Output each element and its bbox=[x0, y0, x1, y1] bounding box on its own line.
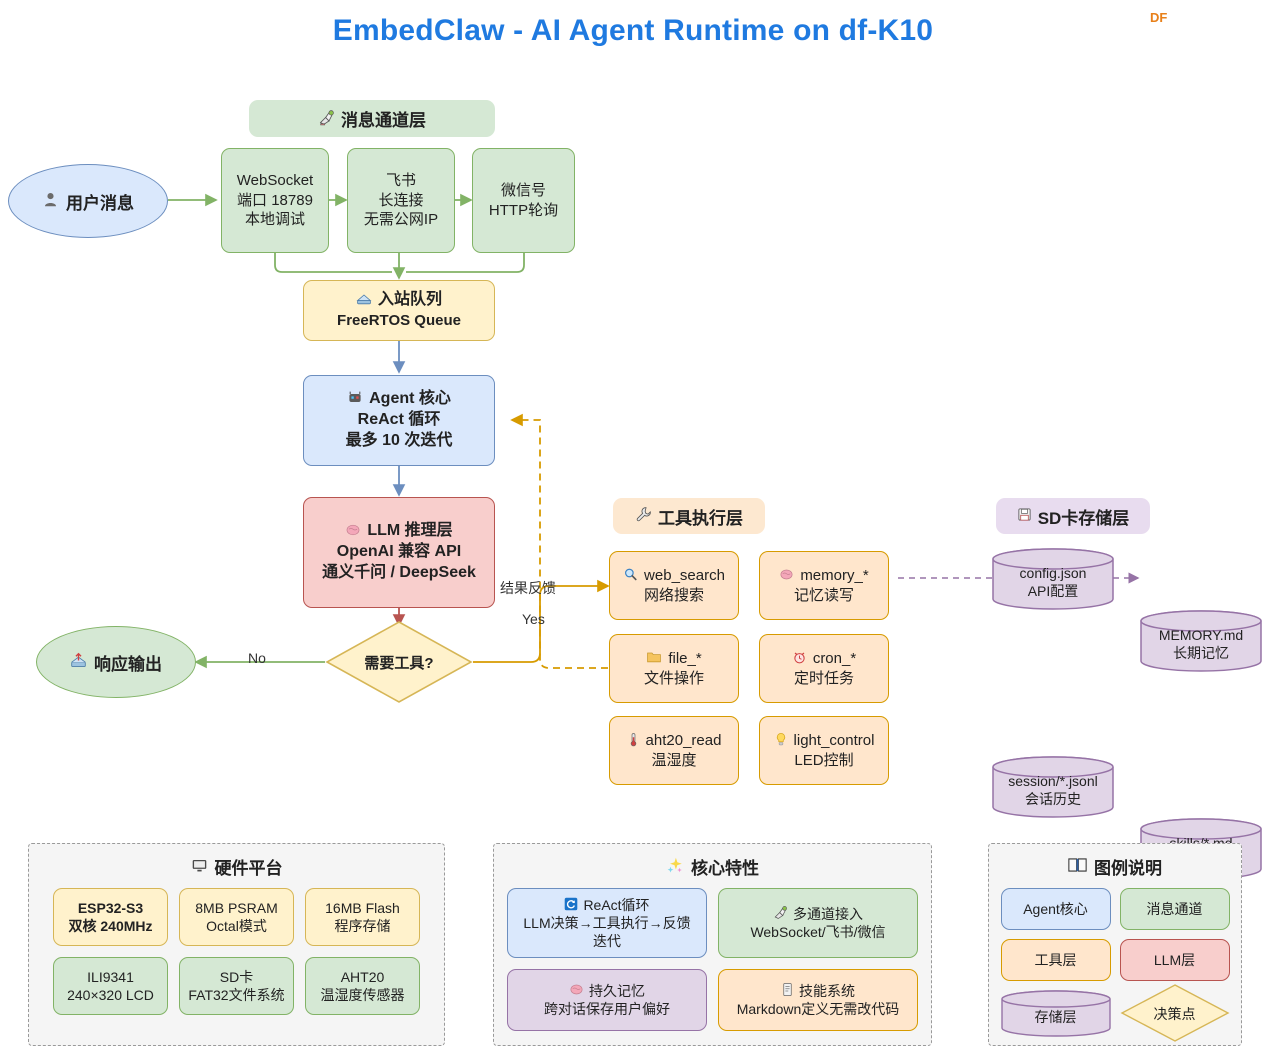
thermometer-icon bbox=[627, 732, 640, 750]
item-line: 16MB Flash bbox=[325, 899, 400, 917]
item-line: SD卡 bbox=[220, 968, 253, 986]
legend-item-llm-layer: LLM层 bbox=[1120, 939, 1230, 981]
storage-layer-header: SD卡存储层 bbox=[996, 498, 1150, 534]
legend-item-tool-layer: 工具层 bbox=[1001, 939, 1111, 981]
response-output-node[interactable]: 响应输出 bbox=[36, 626, 196, 698]
hardware-item-sdcard[interactable]: SD卡 FAT32文件系统 bbox=[179, 957, 294, 1015]
storage-line: 长期记忆 bbox=[1173, 644, 1229, 662]
legend-label: 工具层 bbox=[1035, 951, 1077, 969]
book-icon bbox=[1068, 857, 1087, 876]
channel-node-feishu[interactable]: 飞书 长连接 无需公网IP bbox=[347, 148, 455, 253]
item-line: 8MB PSRAM bbox=[195, 899, 277, 917]
bulb-icon bbox=[774, 732, 788, 750]
item-line: FAT32文件系统 bbox=[188, 986, 284, 1004]
legend-item-agent-core: Agent核心 bbox=[1001, 888, 1111, 930]
storage-line: config.json bbox=[1020, 564, 1087, 582]
item-line: 双核 240MHz bbox=[68, 917, 152, 935]
magnifier-icon bbox=[623, 567, 638, 585]
storage-line: API配置 bbox=[1028, 582, 1079, 600]
item-line: 240×320 LCD bbox=[67, 986, 154, 1004]
channel-node-wechat[interactable]: 微信号 HTTP轮询 bbox=[472, 148, 575, 253]
queue-subtitle: FreeRTOS Queue bbox=[337, 311, 461, 331]
feature-line: WebSocket/飞书/微信 bbox=[750, 923, 885, 941]
queue-title: 入站队列 bbox=[378, 290, 442, 311]
satellite-icon bbox=[773, 905, 788, 922]
watermark-label: DF bbox=[1150, 10, 1167, 25]
storage-line: 会话历史 bbox=[1025, 790, 1081, 808]
item-line: Octal模式 bbox=[206, 917, 267, 935]
node-line: 最多 10 次迭代 bbox=[346, 431, 453, 452]
feature-item-persistent-memory[interactable]: 持久记忆 跨对话保存用户偏好 bbox=[507, 969, 707, 1031]
llm-layer-node[interactable]: LLM 推理层 OpenAI 兼容 API 通义千问 / DeepSeek bbox=[303, 497, 495, 608]
node-line: 微信号 bbox=[501, 181, 546, 201]
hardware-panel: 硬件平台 ESP32-S3 双核 240MHz 8MB PSRAM Octal模… bbox=[28, 843, 445, 1046]
hardware-item-lcd[interactable]: ILI9341 240×320 LCD bbox=[53, 957, 168, 1015]
sparkles-icon bbox=[666, 856, 684, 877]
floppy-icon bbox=[1017, 507, 1032, 525]
page-icon bbox=[781, 982, 794, 999]
hardware-item-esp32[interactable]: ESP32-S3 双核 240MHz bbox=[53, 888, 168, 946]
response-output-label: 响应输出 bbox=[94, 650, 162, 675]
wrench-icon bbox=[635, 506, 652, 526]
legend-label: 消息通道 bbox=[1147, 900, 1203, 918]
refresh-icon bbox=[564, 897, 578, 913]
tool-node-aht20-read[interactable]: aht20_read 温湿度 bbox=[609, 716, 739, 785]
robot-icon bbox=[347, 390, 363, 410]
feature-line: LLM决策→工具执行→反馈 bbox=[523, 914, 690, 932]
feature-head: 持久记忆 bbox=[589, 982, 645, 1000]
tool-desc: 网络搜索 bbox=[644, 586, 704, 606]
legend-label: 存储层 bbox=[1035, 1008, 1077, 1026]
hardware-item-psram[interactable]: 8MB PSRAM Octal模式 bbox=[179, 888, 294, 946]
tool-desc: 记忆读写 bbox=[794, 586, 854, 606]
features-panel-title: 核心特性 bbox=[494, 854, 931, 879]
node-line: 无需公网IP bbox=[364, 210, 438, 230]
agent-core-node[interactable]: Agent 核心 ReAct 循环 最多 10 次迭代 bbox=[303, 375, 495, 466]
legend-panel-title: 图例说明 bbox=[989, 854, 1241, 879]
node-line: 通义千问 / DeepSeek bbox=[322, 563, 476, 584]
brain-icon bbox=[779, 567, 794, 585]
brain-icon bbox=[345, 522, 361, 542]
feature-item-react-loop[interactable]: ReAct循环 LLM决策→工具执行→反馈 迭代 bbox=[507, 888, 707, 958]
agent-core-title: Agent 核心 bbox=[369, 389, 451, 410]
decision-label: 需要工具? bbox=[364, 652, 433, 673]
tool-desc: 温湿度 bbox=[651, 751, 696, 771]
features-panel: 核心特性 ReAct循环 LLM决策→工具执行→反馈 迭代 bbox=[493, 843, 932, 1046]
node-line: 飞书 bbox=[386, 171, 416, 191]
legend-label: Agent核心 bbox=[1023, 900, 1088, 918]
feature-item-multichannel[interactable]: 多通道接入 WebSocket/飞书/微信 bbox=[718, 888, 918, 958]
tool-name: cron_* bbox=[813, 649, 856, 669]
legend-item-storage-layer: 存储层 bbox=[1001, 990, 1111, 1037]
tool-node-memory[interactable]: memory_* 记忆读写 bbox=[759, 551, 889, 620]
hardware-item-aht20[interactable]: AHT20 温湿度传感器 bbox=[305, 957, 420, 1015]
edge-label-feedback: 结果反馈 bbox=[500, 578, 556, 598]
panel-title-label: 核心特性 bbox=[691, 854, 759, 879]
tool-name: memory_* bbox=[800, 566, 868, 586]
storage-layer-label: SD卡存储层 bbox=[1038, 504, 1130, 529]
node-line: ReAct 循环 bbox=[358, 410, 441, 431]
tool-layer-label: 工具执行层 bbox=[658, 504, 743, 529]
llm-title: LLM 推理层 bbox=[367, 521, 452, 542]
tool-layer-header: 工具执行层 bbox=[613, 498, 765, 534]
tool-desc: 文件操作 bbox=[644, 669, 704, 689]
tool-name: light_control bbox=[794, 731, 875, 751]
feature-head: 技能系统 bbox=[799, 982, 855, 1000]
legend-item-decision: 决策点 bbox=[1120, 990, 1230, 1037]
user-icon bbox=[42, 191, 59, 211]
legend-panel: 图例说明 Agent核心 消息通道 工具层 LLM层 存储层 决 bbox=[988, 843, 1242, 1046]
storage-line: session/*.jsonl bbox=[1008, 772, 1098, 790]
tool-node-light-control[interactable]: light_control LED控制 bbox=[759, 716, 889, 785]
user-message-node[interactable]: 用户消息 bbox=[8, 164, 168, 238]
node-line: 长连接 bbox=[378, 191, 423, 211]
node-line: WebSocket bbox=[237, 171, 313, 191]
tool-name: aht20_read bbox=[646, 731, 722, 751]
folder-icon bbox=[646, 649, 662, 668]
tool-node-web-search[interactable]: web_search 网络搜索 bbox=[609, 551, 739, 620]
tool-desc: 定时任务 bbox=[794, 669, 854, 689]
edge-label-yes: Yes bbox=[522, 611, 545, 627]
tool-node-file[interactable]: file_* 文件操作 bbox=[609, 634, 739, 703]
feature-line: 迭代 bbox=[593, 932, 621, 950]
panel-title-label: 硬件平台 bbox=[215, 854, 283, 879]
edge-label-no: No bbox=[248, 650, 266, 666]
item-line: AHT20 bbox=[341, 968, 385, 986]
brain-icon bbox=[569, 982, 584, 999]
monitor-icon bbox=[191, 857, 208, 877]
inbound-queue-node[interactable]: 入站队列 FreeRTOS Queue bbox=[303, 280, 495, 341]
node-line: HTTP轮询 bbox=[489, 201, 558, 221]
node-line: 本地调试 bbox=[245, 210, 305, 230]
legend-item-message-channel: 消息通道 bbox=[1120, 888, 1230, 930]
item-line: ESP32-S3 bbox=[78, 899, 143, 917]
alarm-clock-icon bbox=[792, 650, 807, 668]
legend-label: LLM层 bbox=[1154, 951, 1195, 969]
tool-node-cron[interactable]: cron_* 定时任务 bbox=[759, 634, 889, 703]
hardware-item-flash[interactable]: 16MB Flash 程序存储 bbox=[305, 888, 420, 946]
channel-node-websocket[interactable]: WebSocket 端口 18789 本地调试 bbox=[221, 148, 329, 253]
storage-line: MEMORY.md bbox=[1159, 626, 1243, 644]
panel-title-label: 图例说明 bbox=[1094, 854, 1162, 879]
feature-head: ReAct循环 bbox=[583, 896, 649, 914]
inbox-icon bbox=[356, 291, 372, 311]
feature-head: 多通道接入 bbox=[793, 905, 863, 923]
tool-name: web_search bbox=[644, 566, 725, 586]
feature-line: Markdown定义无需改代码 bbox=[737, 1000, 900, 1018]
channel-layer-header: 消息通道层 bbox=[249, 100, 495, 137]
channel-layer-label: 消息通道层 bbox=[341, 106, 426, 131]
feature-item-skill-system[interactable]: 技能系统 Markdown定义无需改代码 bbox=[718, 969, 918, 1031]
storage-node-memory-md[interactable]: MEMORY.md 长期记忆 bbox=[1140, 610, 1262, 672]
satellite-icon bbox=[318, 109, 335, 129]
storage-node-session[interactable]: session/*.jsonl 会话历史 bbox=[992, 756, 1114, 818]
decision-node[interactable]: 需要工具? bbox=[325, 620, 473, 704]
tool-desc: LED控制 bbox=[794, 751, 853, 771]
hardware-panel-title: 硬件平台 bbox=[29, 854, 444, 879]
node-line: OpenAI 兼容 API bbox=[337, 542, 461, 563]
item-line: 程序存储 bbox=[335, 917, 391, 935]
feature-line: 跨对话保存用户偏好 bbox=[544, 1000, 670, 1018]
node-line: 端口 18789 bbox=[237, 191, 313, 211]
item-line: ILI9341 bbox=[87, 968, 134, 986]
storage-node-config[interactable]: config.json API配置 bbox=[992, 548, 1114, 610]
user-message-label: 用户消息 bbox=[66, 189, 134, 214]
item-line: 温湿度传感器 bbox=[321, 986, 405, 1004]
tool-name: file_* bbox=[668, 649, 701, 669]
page-title: EmbedClaw - AI Agent Runtime on df-K10 bbox=[0, 14, 1266, 48]
outbox-icon bbox=[70, 652, 87, 672]
legend-label: 决策点 bbox=[1154, 1004, 1196, 1024]
